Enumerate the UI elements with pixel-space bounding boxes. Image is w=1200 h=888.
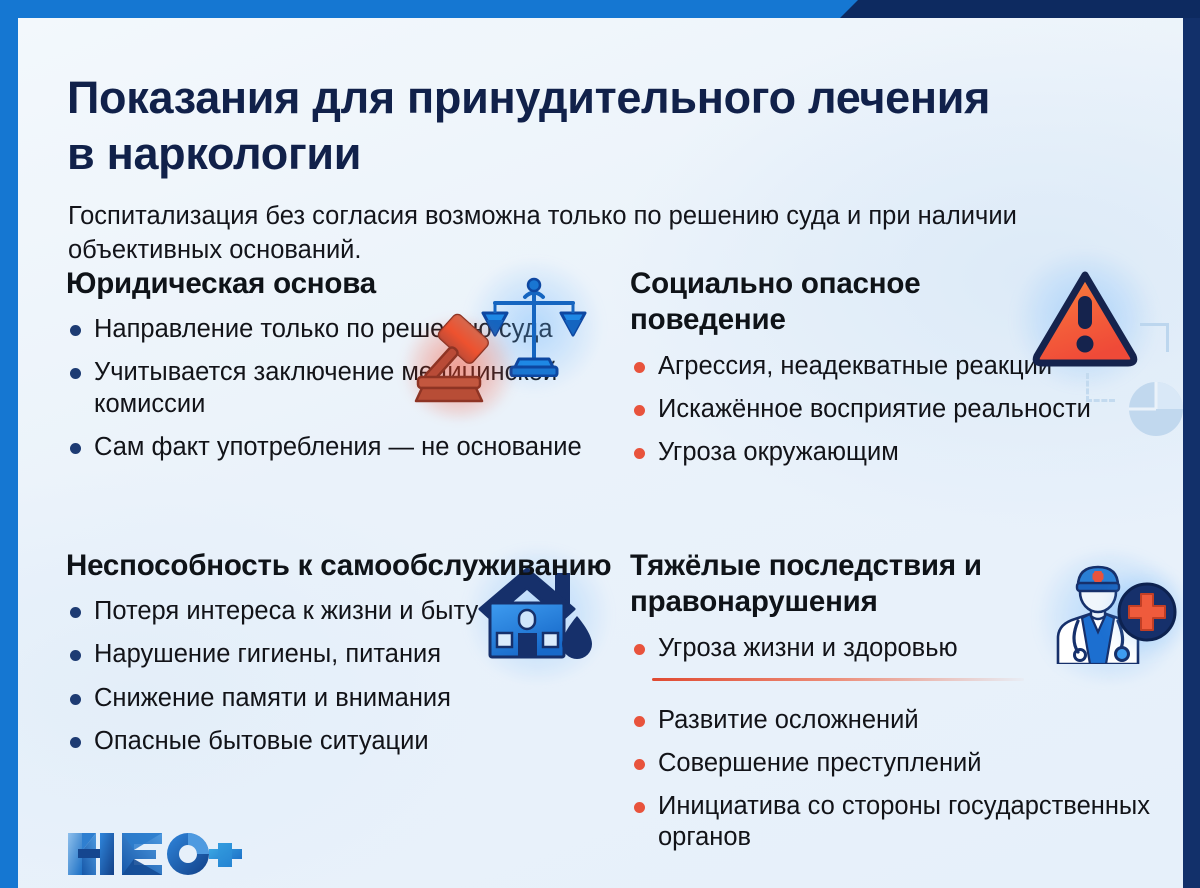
section-heading: Тяжёлые последствия и правонарушения	[630, 548, 1182, 621]
list-item: Агрессия, неадекватные реакции	[630, 351, 1182, 382]
list-item: Инициатива со стороны государственных ор…	[630, 791, 1182, 853]
frame-bar-right	[1183, 0, 1200, 888]
list-item: Совершение преступлений	[630, 748, 1182, 779]
section-bullet-list: Направление только по решению суда Учиты…	[66, 314, 621, 462]
page-subtitle: Госпитализация без согласия возможна тол…	[68, 199, 1028, 267]
poster-canvas: Показания для принудительного лечения в …	[18, 18, 1183, 888]
section-heading: Юридическая основа	[66, 266, 466, 302]
section-bullet-list: Потеря интереса к жизни и быту Нарушение…	[66, 596, 621, 756]
section-bullet-list-bottom: Развитие осложнений Совершение преступле…	[630, 705, 1182, 853]
list-item: Искажённое восприятие реальности	[630, 394, 1182, 425]
list-item: Учитывается заключение медицинской комис…	[66, 357, 621, 419]
section-heading: Социально опасное поведение	[630, 266, 1050, 339]
section-heading: Неспособность к самообслуживанию	[66, 548, 621, 584]
section-legal-basis: Юридическая основа Направление только по…	[66, 266, 621, 463]
list-item: Развитие осложнений	[630, 705, 1182, 736]
list-item: Опасные бытовые ситуации	[66, 726, 621, 757]
list-item: Нарушение гигиены, питания	[66, 639, 621, 670]
list-item: Угроза жизни и здоровью	[630, 633, 1182, 664]
brand-logo-mark	[66, 829, 242, 879]
section-socially-dangerous-behavior: Социально опасное поведение Агрессия, не…	[630, 266, 1182, 468]
section-severe-consequences: Тяжёлые последствия и правонарушения Угр…	[630, 548, 1182, 853]
frame-bar-left	[0, 0, 18, 888]
section-self-care-inability: Неспособность к самообслуживанию Потеря …	[66, 548, 621, 757]
list-item: Сам факт употребления — не основание	[66, 432, 621, 463]
frame-bar-top-left	[0, 0, 870, 18]
section-bullet-list: Агрессия, неадекватные реакции Искажённо…	[630, 351, 1182, 468]
infographic-poster: Показания для принудительного лечения в …	[0, 0, 1200, 888]
list-item: Потеря интереса к жизни и быту	[66, 596, 621, 627]
brand-logo	[66, 828, 242, 880]
list-item: Угроза окружающим	[630, 437, 1182, 468]
list-item: Направление только по решению суда	[66, 314, 621, 345]
page-title: Показания для принудительного лечения в …	[67, 70, 1027, 182]
frame-bar-top-right	[840, 0, 1200, 18]
section-bullet-list-top: Угроза жизни и здоровью	[630, 633, 1182, 664]
section-divider	[652, 678, 1024, 681]
list-item: Снижение памяти и внимания	[66, 683, 621, 714]
